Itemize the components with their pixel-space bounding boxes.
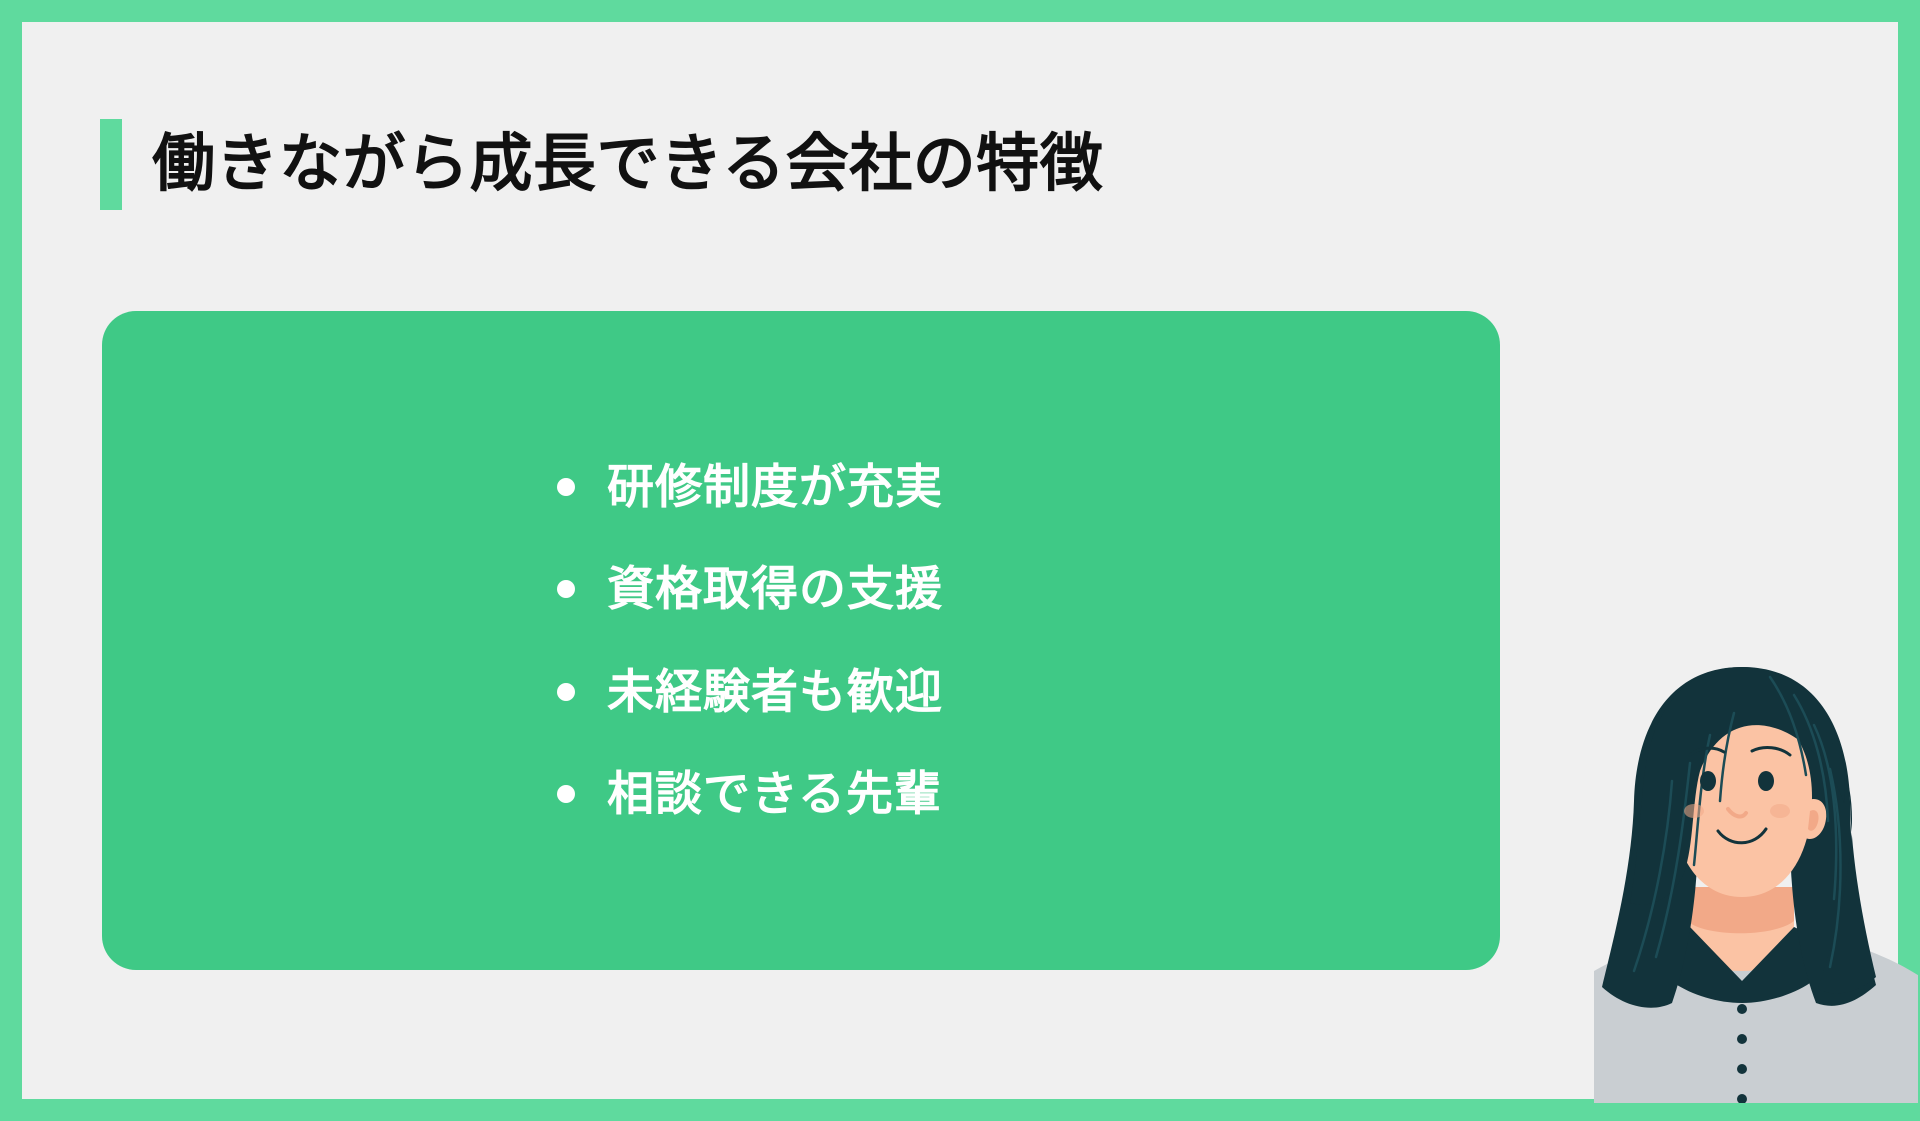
bullet-dot-icon (557, 580, 575, 598)
bullet-label: 資格取得の支援 (607, 562, 943, 616)
bullet-list: 研修制度が充実 資格取得の支援 未経験者も歓迎 相談できる先輩 (102, 311, 1500, 970)
list-item: 相談できる先輩 (557, 767, 942, 821)
bullet-dot-icon (557, 683, 575, 701)
list-item: 研修制度が充実 (557, 460, 943, 514)
list-item: 資格取得の支援 (557, 562, 943, 616)
bullet-dot-icon (557, 785, 575, 803)
bullet-label: 研修制度が充実 (607, 460, 943, 514)
title-accent-bar (100, 119, 122, 210)
content-card: 研修制度が充実 資格取得の支援 未経験者も歓迎 相談できる先輩 (102, 311, 1500, 970)
list-item: 未経験者も歓迎 (557, 665, 943, 719)
page-title: 働きながら成長できる会社の特徴 (100, 119, 1103, 210)
title-text: 働きながら成長できる会社の特徴 (152, 131, 1103, 197)
slide-stage: 働きながら成長できる会社の特徴 研修制度が充実 資格取得の支援 未経験者も歓迎 (22, 22, 1898, 1099)
bullet-label: 未経験者も歓迎 (607, 665, 943, 719)
bullet-label: 相談できる先輩 (607, 767, 942, 821)
bullet-dot-icon (557, 478, 575, 496)
slide-root: 働きながら成長できる会社の特徴 研修制度が充実 資格取得の支援 未経験者も歓迎 (0, 0, 1920, 1121)
